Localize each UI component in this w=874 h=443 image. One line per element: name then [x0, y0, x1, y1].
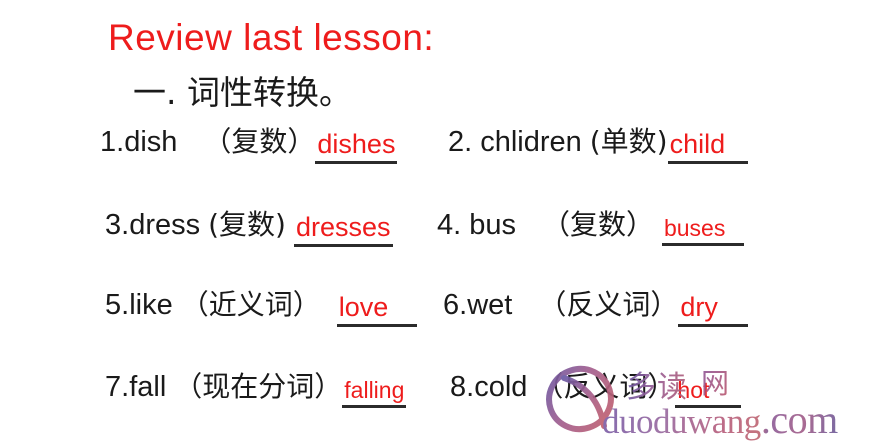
exercise-answer: hot [675, 379, 741, 408]
exercise-number: 4. [437, 209, 461, 242]
exercise-item-2: 2. chlidren (单数) child [448, 120, 748, 162]
exercise-word: like [129, 289, 173, 322]
exercise-row: 5.like （近义词） love 6.wet （反义词） dry [0, 283, 874, 329]
exercise-answer: child [668, 131, 748, 164]
exercise-item-1: 1.dish （复数） dishes [100, 120, 397, 162]
exercise-item-4: 4. bus （复数） buses [437, 203, 744, 244]
exercise-hint: （复数） [203, 120, 315, 160]
exercise-word: chlidren [480, 126, 582, 159]
exercise-word: dress [129, 209, 200, 242]
exercise-number: 6. [443, 289, 467, 322]
exercise-item-8: 8.cold （反义词） hot [450, 365, 741, 406]
page-title: Review last lesson: [108, 17, 434, 59]
exercise-number: 5. [105, 289, 129, 322]
exercise-word: wet [467, 289, 512, 322]
exercise-word: cold [474, 371, 527, 404]
exercise-item-7: 7.fall （现在分词） falling [105, 365, 406, 406]
exercise-number: 1. [100, 126, 124, 159]
exercise-number: 8. [450, 371, 474, 404]
exercise-hint: （现在分词） [174, 365, 342, 405]
section-heading: 一. 词性转换。 [133, 66, 352, 114]
exercise-number: 7. [105, 371, 129, 404]
exercise-row: 7.fall （现在分词） falling 8.cold （反义词） hot [0, 365, 874, 411]
exercise-hint: （反义词） [538, 283, 678, 323]
exercise-answer: dishes [315, 131, 397, 164]
exercise-answer: dry [678, 294, 748, 327]
exercise-row: 1.dish （复数） dishes 2. chlidren (单数) chil… [0, 120, 874, 166]
exercise-number: 2. [448, 126, 472, 159]
exercise-word: fall [129, 371, 166, 404]
exercise-number: 3. [105, 209, 129, 242]
exercise-hint: (复数) [208, 203, 286, 243]
exercise-answer: love [337, 294, 417, 327]
exercise-hint: （反义词） [535, 365, 675, 405]
exercise-hint: (单数) [590, 120, 668, 160]
exercise-item-3: 3.dress (复数) dresses [105, 203, 393, 245]
exercise-row: 3.dress (复数) dresses 4. bus （复数） buses [0, 203, 874, 249]
exercise-hint: （近义词） [181, 283, 321, 323]
exercise-answer: buses [662, 217, 744, 246]
exercise-word: bus [469, 209, 516, 242]
exercise-answer: falling [342, 379, 406, 408]
exercise-word: dish [124, 126, 177, 159]
exercise-answer: dresses [294, 214, 393, 247]
slide-canvas: Review last lesson: 一. 词性转换。 1.dish （复数）… [0, 0, 874, 439]
exercise-hint: （复数） [542, 203, 654, 243]
exercise-item-5: 5.like （近义词） love [105, 283, 417, 325]
exercise-item-6: 6.wet （反义词） dry [443, 283, 748, 325]
